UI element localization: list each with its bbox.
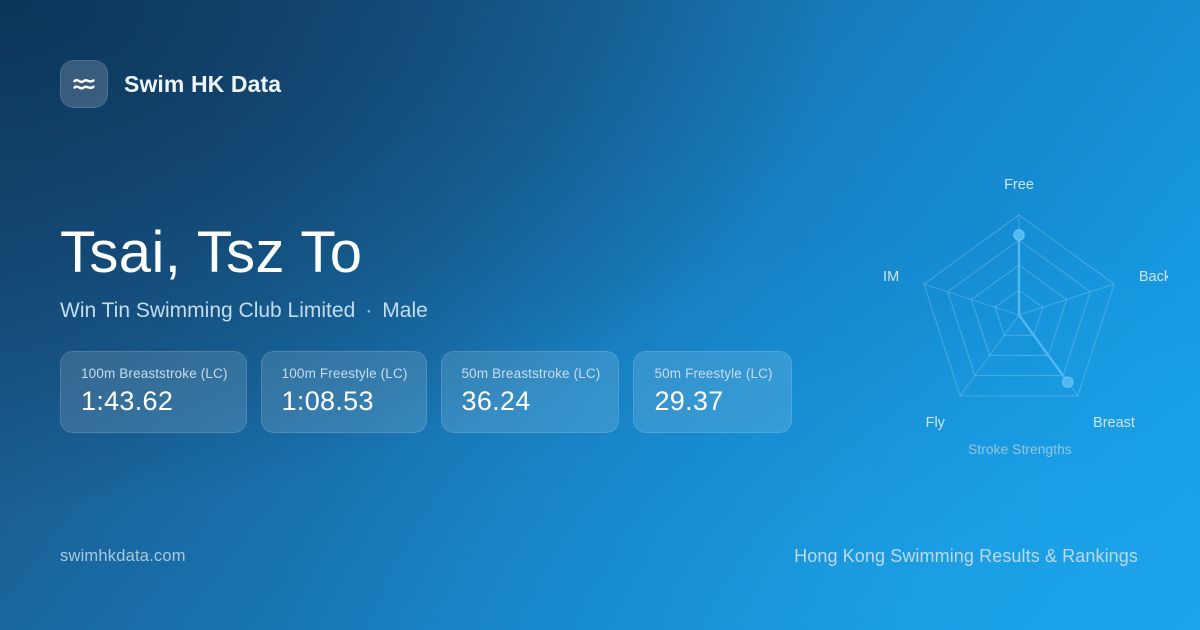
stat-label: 100m Breaststroke (LC) [81,366,228,381]
radar-axis-label-fly: Fly [926,415,946,431]
radar-axis-label-free: Free [1004,177,1034,193]
radar-axis-label-breast: Breast [1093,415,1135,431]
stat-value: 36.24 [462,386,601,417]
stat-card: 50m Breaststroke (LC) 36.24 [441,351,620,433]
stat-value: 29.37 [654,386,772,417]
athlete-identity: Tsai, Tsz To Win Tin Swimming Club Limit… [60,222,428,323]
stat-label: 50m Breaststroke (LC) [462,366,601,381]
stat-card: 50m Freestyle (LC) 29.37 [633,351,791,433]
athlete-gender: Male [382,299,428,323]
footer-site-url: swimhkdata.com [60,547,186,566]
athlete-meta: Win Tin Swimming Club Limited · Male [60,299,428,323]
stat-card: 100m Freestyle (LC) 1:08.53 [261,351,427,433]
stat-value: 1:43.62 [81,386,228,417]
athlete-share-card: Swim HK Data Tsai, Tsz To Win Tin Swimmi… [0,0,1200,630]
radar-axis-label-back: Back [1139,269,1168,285]
stat-label: 100m Freestyle (LC) [282,366,408,381]
page-title: Tsai, Tsz To [60,222,428,283]
radar-axis-label-im: IM [883,269,899,285]
chart-caption: Stroke Strengths [872,442,1168,457]
wave-icon [60,60,108,108]
stat-label: 50m Freestyle (LC) [654,366,772,381]
meta-separator: · [365,299,372,323]
stroke-strengths-radar-chart: FreeBackBreastFlyIM Stroke Strengths [872,168,1168,468]
best-times-list: 100m Breaststroke (LC) 1:43.62 100m Free… [60,351,792,433]
brand-name: Swim HK Data [124,71,281,98]
radar-area [1019,235,1068,382]
stat-card: 100m Breaststroke (LC) 1:43.62 [60,351,247,433]
athlete-club: Win Tin Swimming Club Limited [60,299,355,323]
footer-tagline: Hong Kong Swimming Results & Rankings [794,546,1138,567]
radar-axis-labels: FreeBackBreastFlyIM [883,177,1168,431]
brand-header: Swim HK Data [60,60,281,108]
stat-value: 1:08.53 [282,386,408,417]
